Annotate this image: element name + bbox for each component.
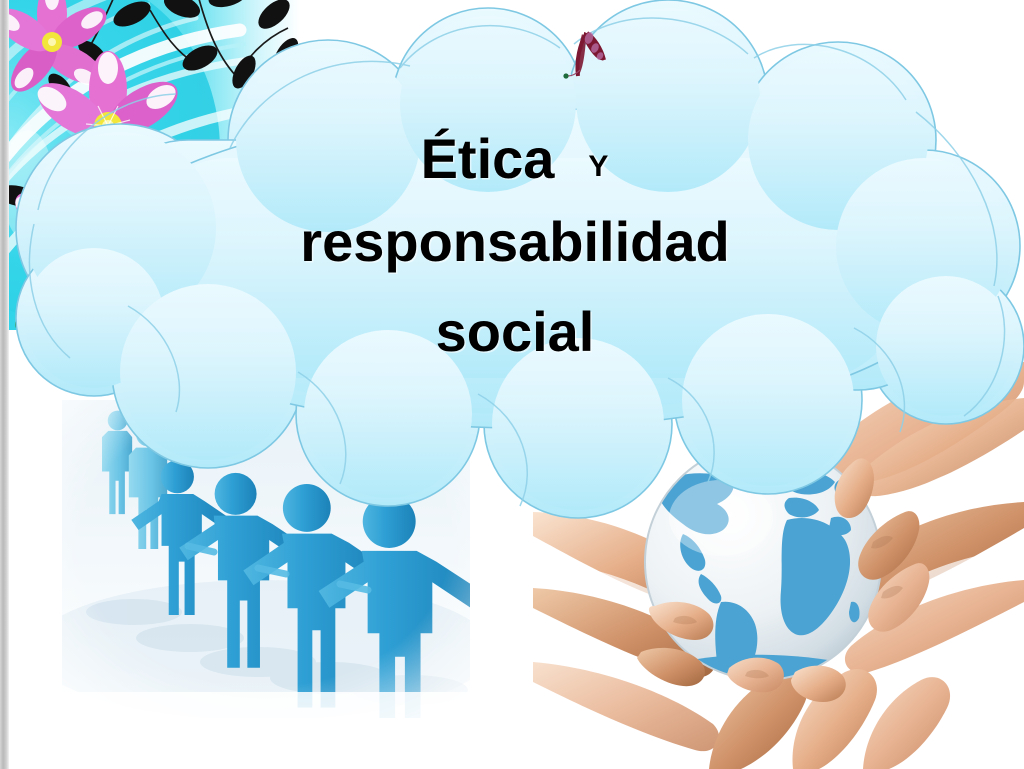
- title-line-2: responsabilidad: [110, 198, 920, 286]
- butterfly-decoration: [556, 22, 626, 82]
- title-line-1: ÉticaY: [110, 128, 920, 198]
- page-edge-shadow: [0, 0, 9, 769]
- hands-holding-globe-image: [533, 352, 1024, 769]
- presentation-slide: “: [0, 0, 1024, 769]
- slide-title: ÉticaY responsabilidad social: [110, 128, 920, 378]
- quote-mark-decoration: “: [12, 312, 41, 354]
- title-word-etica: Ética: [421, 127, 555, 190]
- people-holding-hands-image: [62, 400, 470, 718]
- title-line-3: social: [110, 286, 920, 378]
- title-conjunction: Y: [588, 150, 609, 183]
